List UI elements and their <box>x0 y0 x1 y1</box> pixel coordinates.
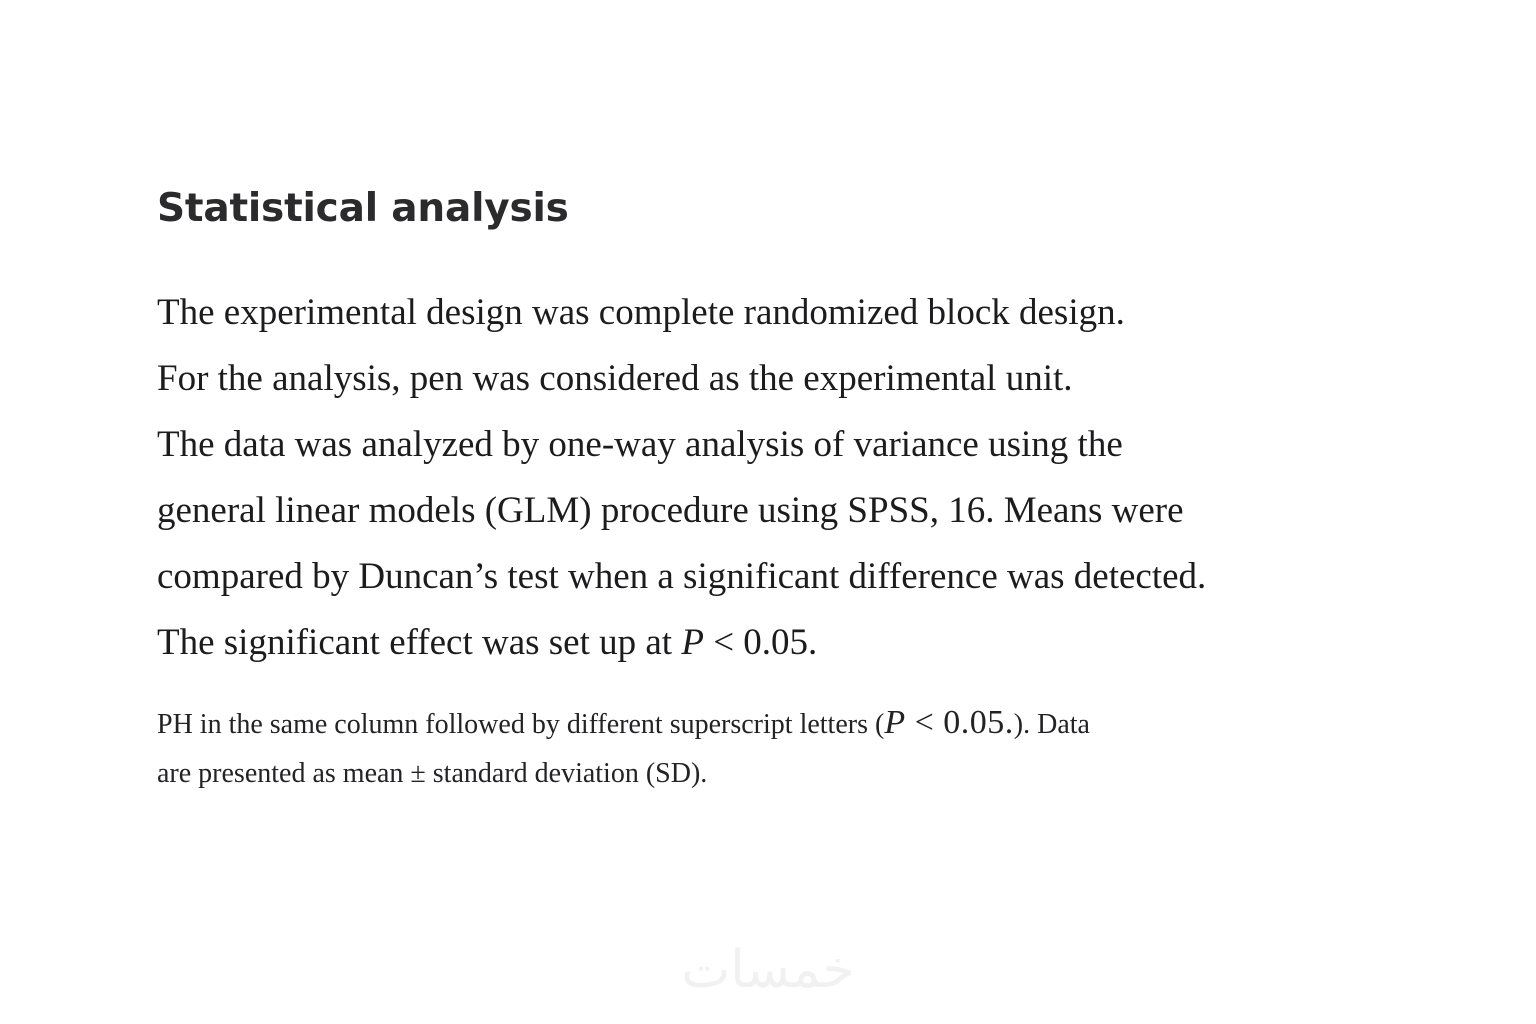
footnote-p-symbol: P <box>884 704 905 741</box>
document-content: Statistical analysis The experimental de… <box>157 186 1407 798</box>
watermark: خمسات <box>0 938 1536 1002</box>
body-line-5: compared by Duncan’s test when a signifi… <box>157 544 1402 610</box>
footnote-line-2: are presented as mean ± standard deviati… <box>157 749 1402 798</box>
footnote-p-threshold: < 0.05. <box>906 704 1014 741</box>
body-line-6: The significant effect was set up at P <… <box>157 610 1402 676</box>
footnote-line-1-pre: PH in the same column followed by differ… <box>157 709 884 740</box>
body-line-1: The experimental design was complete ran… <box>157 280 1402 346</box>
body-line-4: general linear models (GLM) procedure us… <box>157 478 1402 544</box>
page-title: Statistical analysis <box>157 186 1407 232</box>
footnote-p-value: P < 0.05. <box>884 704 1013 741</box>
footnote-line-1: PH in the same column followed by differ… <box>157 698 1402 749</box>
body-line-6-pre: The significant effect was set up at <box>157 622 681 663</box>
p-value-symbol: P <box>681 622 704 663</box>
document-page: Statistical analysis The experimental de… <box>0 0 1536 1024</box>
footnote-line-1-post: ). Data <box>1014 709 1090 740</box>
footnote-paragraph: PH in the same column followed by differ… <box>157 698 1402 798</box>
body-line-3: The data was analyzed by one-way analysi… <box>157 412 1402 478</box>
body-line-6-post: < 0.05. <box>704 622 817 663</box>
body-paragraph: The experimental design was complete ran… <box>157 280 1402 676</box>
body-line-2: For the analysis, pen was considered as … <box>157 346 1402 412</box>
